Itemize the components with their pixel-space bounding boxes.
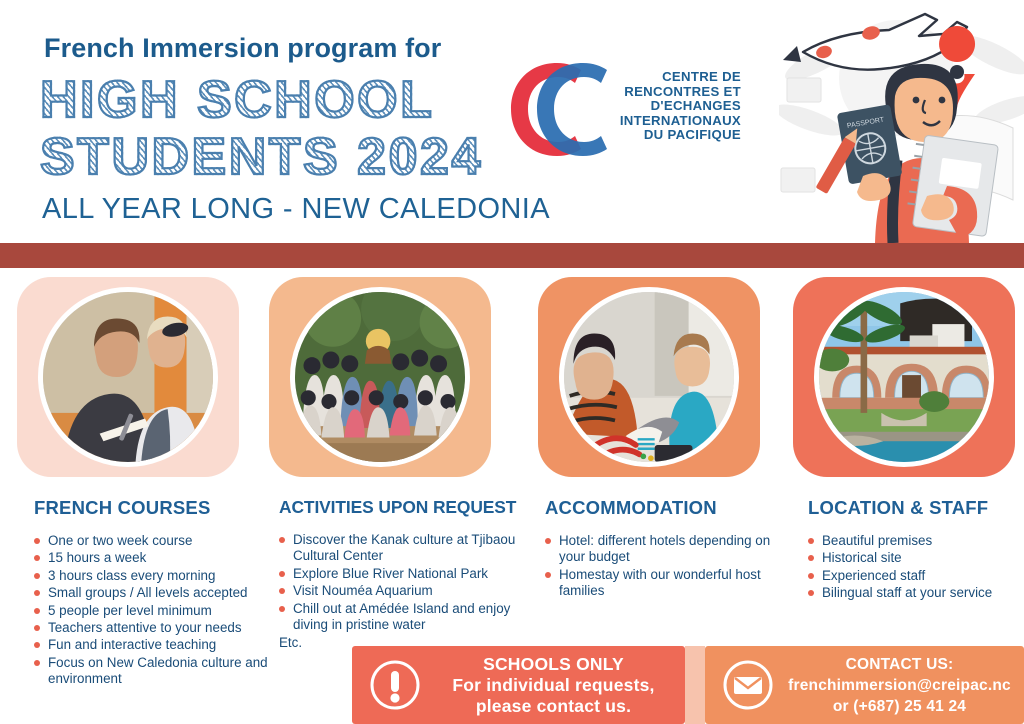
list-item: Fun and interactive teaching <box>34 637 274 653</box>
list-item-text: Focus on New Caledonia culture and envir… <box>48 655 268 686</box>
list-item: 3 hours class every morning <box>34 568 274 584</box>
divider-band <box>0 243 1024 268</box>
list-item: One or two week course <box>34 533 274 549</box>
list-item-text: 15 hours a week <box>48 550 146 565</box>
list-item: 5 people per level minimum <box>34 603 274 619</box>
poster-root: French Immersion program for HIGH SCHOOL… <box>0 0 1024 724</box>
list-item-text: Chill out at Amédée Island and enjoy div… <box>293 601 510 632</box>
list-item: Experienced staff <box>808 568 1023 584</box>
list-item-text: Fun and interactive teaching <box>48 637 216 652</box>
list-item: Chill out at Amédée Island and enjoy div… <box>279 601 531 634</box>
contact-banner[interactable]: CONTACT US: frenchimmersion@creipac.nc o… <box>705 646 1024 724</box>
bullet-list: One or two week course 15 hours a week 3… <box>34 533 274 688</box>
bullet-dot-icon <box>34 538 40 544</box>
list-item: Homestay with our wonderful host familie… <box>545 567 790 600</box>
header-eyebrow: French Immersion program for <box>44 33 441 64</box>
column-title: ACCOMMODATION <box>545 497 790 519</box>
list-item-text: 5 people per level minimum <box>48 603 212 618</box>
list-item: Historical site <box>808 550 1023 566</box>
bullet-dot-icon <box>808 538 814 544</box>
logo-text-line-5: DU PACIFIQUE <box>617 128 741 143</box>
bullet-list: Discover the Kanak culture at Tjibaou Cu… <box>279 532 531 633</box>
column-accommodation: ACCOMMODATION Hotel: different hotels de… <box>545 497 790 601</box>
bullet-dot-icon <box>34 608 40 614</box>
schools-only-line-3: please contact us. <box>432 696 675 717</box>
header-section: French Immersion program for HIGH SCHOOL… <box>0 0 1024 243</box>
bullet-dot-icon <box>545 572 551 578</box>
list-item-text: Small groups / All levels accepted <box>48 585 247 600</box>
list-item-text: Visit Nouméa Aquarium <box>293 583 433 598</box>
list-item-text: Bilingual staff at your service <box>822 585 992 600</box>
list-item-text: Homestay with our wonderful host familie… <box>559 567 761 598</box>
page-title-line-2: STUDENTS 2024 <box>40 129 560 186</box>
column-location-staff: LOCATION & STAFF Beautiful premises Hist… <box>808 497 1023 603</box>
photo-students-writing <box>38 287 218 467</box>
bullet-dot-icon <box>34 590 40 596</box>
list-item: Small groups / All levels accepted <box>34 585 274 601</box>
list-item: Teachers attentive to your needs <box>34 620 274 636</box>
photo-host-family-playing <box>559 287 739 467</box>
banner-edge-accent <box>685 646 705 724</box>
contact-phone[interactable]: or (+687) 25 41 24 <box>785 696 1014 717</box>
page-title-line-1: HIGH SCHOOL <box>40 72 560 129</box>
list-item-text: Experienced staff <box>822 568 925 583</box>
column-title: FRENCH COURSES <box>34 497 274 519</box>
contact-email[interactable]: frenchimmersion@creipac.nc <box>785 675 1014 696</box>
logo-text-line-2: RENCONTRES ET <box>617 85 741 100</box>
bullet-dot-icon <box>34 555 40 561</box>
logo: CENTRE DE RENCONTRES ET D'ECHANGES INTER… <box>505 57 740 165</box>
contact-text: CONTACT US: frenchimmersion@creipac.nc o… <box>775 654 1024 717</box>
list-item-text: One or two week course <box>48 533 192 548</box>
photo-creipac-building <box>814 287 994 467</box>
bullet-list: Beautiful premises Historical site Exper… <box>808 533 1023 602</box>
column-title: ACTIVITIES UPON REQUEST <box>279 497 531 518</box>
logo-text-line-1: CENTRE DE <box>617 70 741 85</box>
list-item-text: Explore Blue River National Park <box>293 566 488 581</box>
bullet-dot-icon <box>34 573 40 579</box>
photo-card-accommodation <box>538 277 760 477</box>
list-item-text: Teachers attentive to your needs <box>48 620 242 635</box>
list-item: Discover the Kanak culture at Tjibaou Cu… <box>279 532 531 565</box>
photo-cards <box>0 268 1024 483</box>
bullet-dot-icon <box>34 660 40 666</box>
photo-card-activities <box>269 277 491 477</box>
list-item-text: Beautiful premises <box>822 533 932 548</box>
photo-card-location <box>793 277 1015 477</box>
column-activities: ACTIVITIES UPON REQUEST Discover the Kan… <box>279 497 531 650</box>
page-title: HIGH SCHOOL STUDENTS 2024 <box>40 72 560 186</box>
list-item: Beautiful premises <box>808 533 1023 549</box>
bullet-dot-icon <box>34 625 40 631</box>
contact-label: CONTACT US: <box>785 654 1014 675</box>
schools-only-line-1: SCHOOLS ONLY <box>432 654 675 675</box>
list-item-text: Discover the Kanak culture at Tjibaou Cu… <box>293 532 515 563</box>
list-item-text: 3 hours class every morning <box>48 568 215 583</box>
exclamation-circle-icon <box>368 658 422 712</box>
bullet-dot-icon <box>545 538 551 544</box>
list-item: 15 hours a week <box>34 550 274 566</box>
schools-only-banner: SCHOOLS ONLY For individual requests, pl… <box>352 646 685 724</box>
photo-card-french-courses <box>17 277 239 477</box>
bullet-dot-icon <box>279 571 285 577</box>
bullet-dot-icon <box>808 590 814 596</box>
bullet-dot-icon <box>808 573 814 579</box>
list-item: Bilingual staff at your service <box>808 585 1023 601</box>
bullet-dot-icon <box>808 555 814 561</box>
logo-text-line-3: D'ECHANGES <box>617 99 741 114</box>
logo-text-line-4: INTERNATIONAUX <box>617 114 741 129</box>
schools-only-text: SCHOOLS ONLY For individual requests, pl… <box>422 654 685 717</box>
envelope-icon <box>721 658 775 712</box>
bullet-dot-icon <box>279 606 285 612</box>
column-french-courses: FRENCH COURSES One or two week course 15… <box>34 497 274 689</box>
column-title: LOCATION & STAFF <box>808 497 1023 519</box>
bullet-dot-icon <box>279 537 285 543</box>
list-item: Visit Nouméa Aquarium <box>279 583 531 599</box>
list-item: Focus on New Caledonia culture and envir… <box>34 655 274 688</box>
bullet-list: Hotel: different hotels depending on you… <box>545 533 790 600</box>
logo-mark-icon <box>505 57 615 162</box>
logo-text: CENTRE DE RENCONTRES ET D'ECHANGES INTER… <box>617 70 741 143</box>
bullet-dot-icon <box>279 588 285 594</box>
list-item: Explore Blue River National Park <box>279 566 531 582</box>
photo-group-cultural-event <box>290 287 470 467</box>
bullet-dot-icon <box>34 642 40 648</box>
schools-only-line-2: For individual requests, <box>432 675 675 696</box>
student-traveler-illustration: PASSPORT <box>779 0 1024 243</box>
list-item-text: Hotel: different hotels depending on you… <box>559 533 770 564</box>
list-item: Hotel: different hotels depending on you… <box>545 533 790 566</box>
list-item-text: Historical site <box>822 550 902 565</box>
header-subtitle: ALL YEAR LONG - NEW CALEDONIA <box>42 193 550 226</box>
